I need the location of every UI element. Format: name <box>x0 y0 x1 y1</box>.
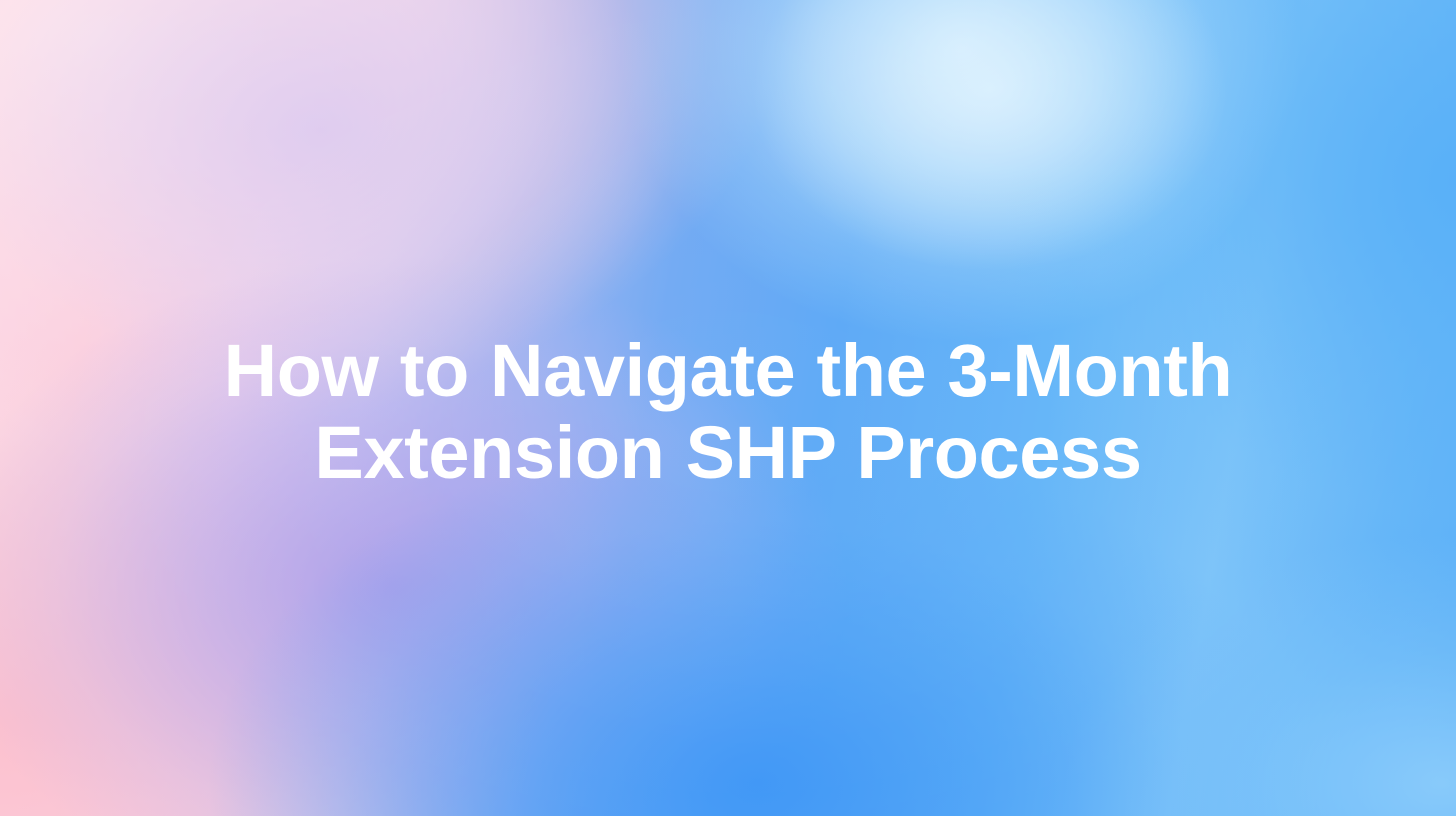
title-slide: How to Navigate the 3-Month Extension SH… <box>0 0 1456 816</box>
page-title: How to Navigate the 3-Month Extension SH… <box>40 330 1416 494</box>
title-block: How to Navigate the 3-Month Extension SH… <box>0 330 1456 494</box>
